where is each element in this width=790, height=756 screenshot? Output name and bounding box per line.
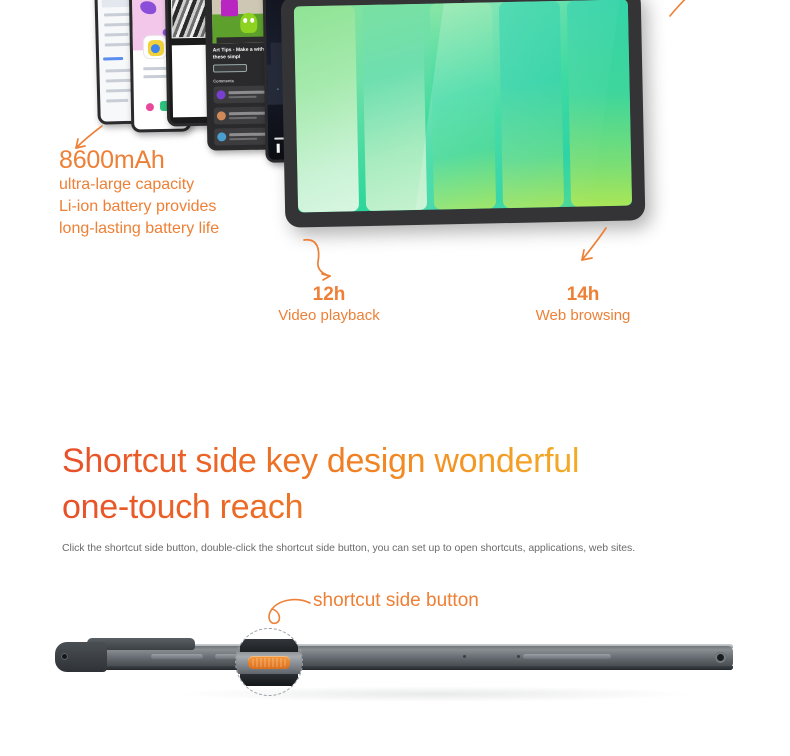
capacity-line-1: ultra-large capacity [59, 174, 219, 196]
download-button[interactable] [213, 64, 247, 73]
capacity-line-2: Li-ion battery provides [59, 196, 219, 218]
curved-arrow-down-right-icon [296, 236, 356, 288]
stat-label: Video playback [264, 306, 394, 325]
stat-value: 14h [518, 284, 648, 306]
curved-arrow-down-left-icon [562, 226, 622, 284]
battery-section: Play STILL LIFE STUDY [0, 0, 790, 400]
stat-video-playback: 12h Video playback [264, 284, 394, 325]
battery-bar [294, 5, 360, 212]
device-bottom-edge [65, 666, 733, 670]
shortcut-button-label: shortcut side button [313, 590, 479, 612]
product-detail-page: Play STILL LIFE STUDY [0, 0, 790, 756]
page-title: Shortcut side key design wonderful one-t… [62, 438, 762, 530]
battery-bar [567, 0, 632, 207]
microphone-hole [517, 655, 520, 658]
capacity-line-3: long-lasting battery life [59, 218, 219, 240]
speaker-slot [151, 654, 203, 659]
capacity-value: 8600mAh [59, 146, 219, 174]
battery-bars [294, 0, 632, 212]
sim-tray-slot [523, 654, 611, 659]
front-camera-icon [461, 0, 465, 1]
tablet-side-profile [55, 628, 745, 698]
tablet-battery-bars [281, 0, 646, 228]
microphone-hole [463, 655, 466, 658]
headphone-jack-icon [715, 652, 726, 663]
battery-bar [430, 2, 496, 209]
capacity-callout: 8600mAh ultra-large capacity Li-ion batt… [59, 146, 219, 240]
comments-label: Comments [213, 78, 234, 83]
device-left-end [55, 642, 107, 672]
curved-arrow-partial-icon [630, 0, 700, 26]
stat-label: Web browsing [518, 306, 648, 325]
stat-web-browsing: 14h Web browsing [518, 284, 648, 325]
stat-value: 12h [264, 284, 394, 306]
page-subtitle: Click the shortcut side button, double-c… [62, 542, 732, 554]
shortcut-section: Shortcut side key design wonderful one-t… [0, 430, 790, 756]
battery-bar [362, 4, 428, 211]
dashed-circle-magnifier-icon [235, 628, 303, 696]
battery-bar [498, 1, 564, 208]
